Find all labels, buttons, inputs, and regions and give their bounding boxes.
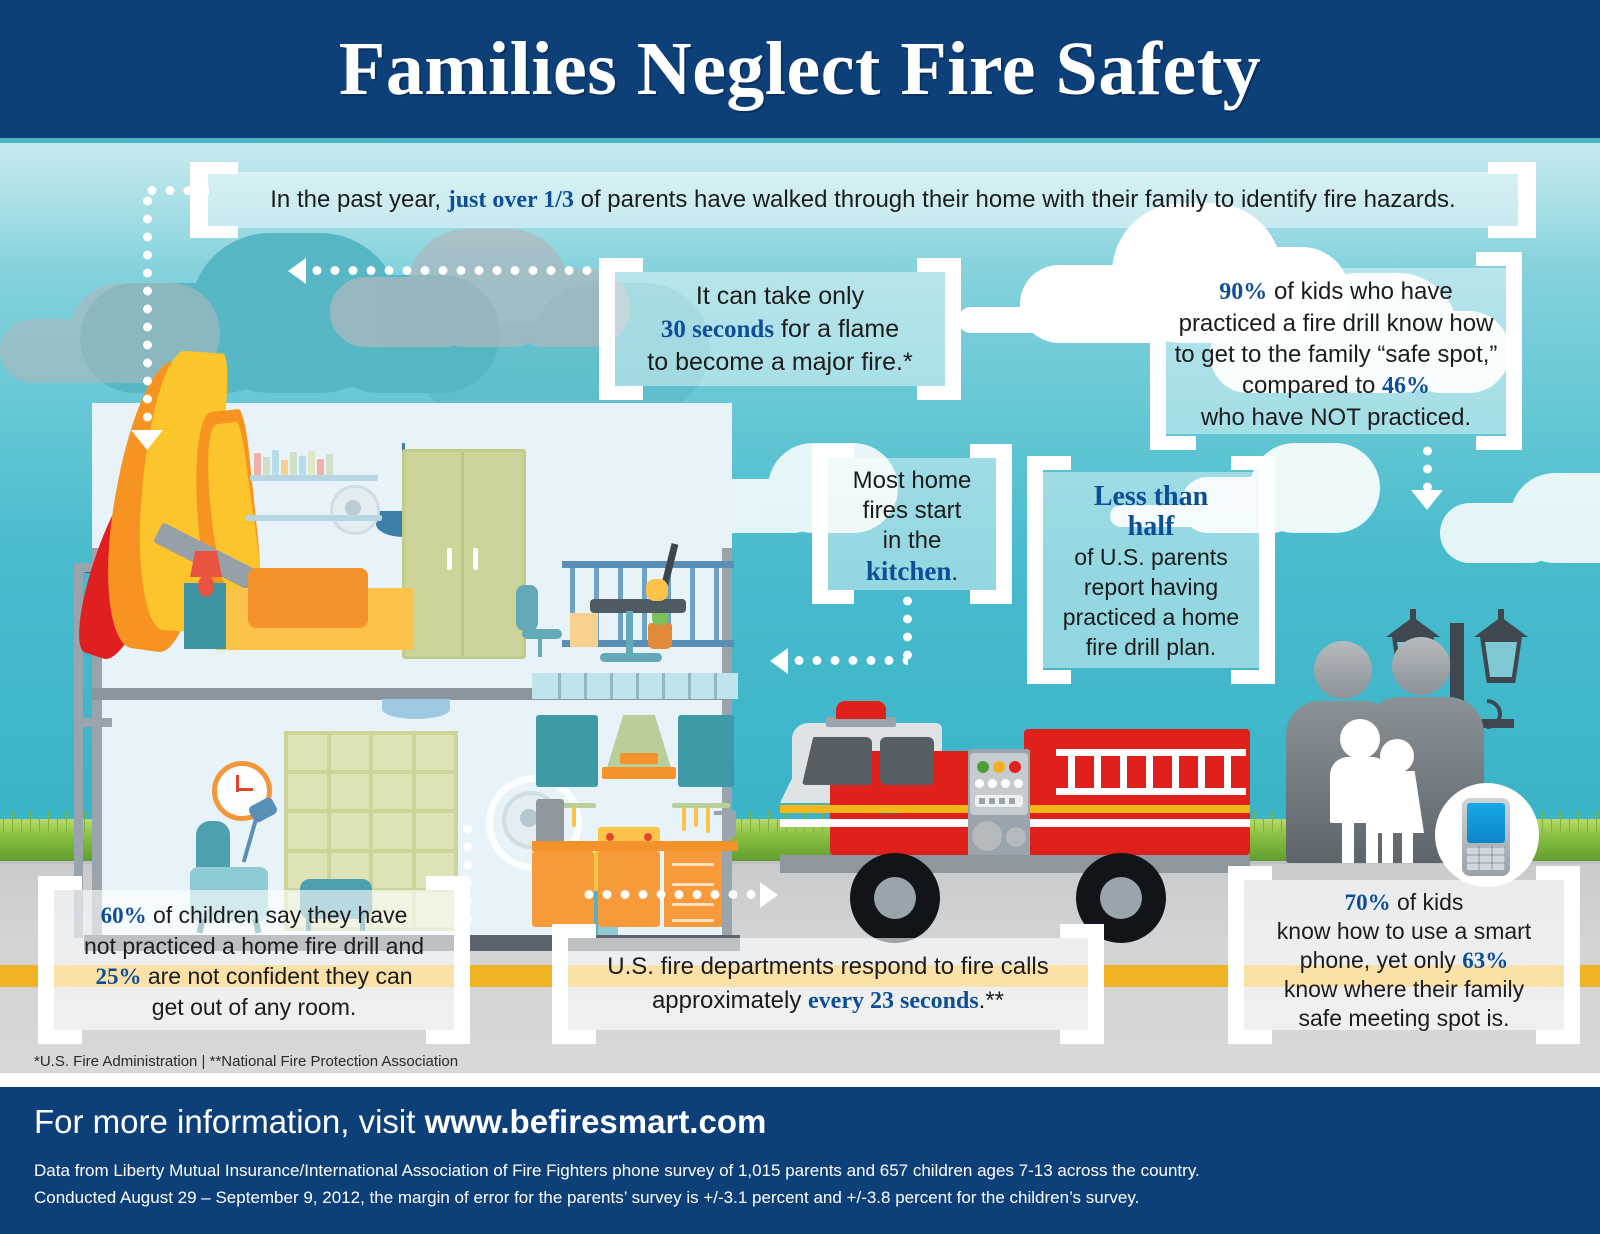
svp-l2: know how to use a smart	[1244, 917, 1564, 946]
connector-dots-banner-down	[143, 192, 152, 432]
callout-text: U.S. fire departments respond to fire ca…	[568, 938, 1088, 1018]
truck-front-wheel	[850, 853, 940, 943]
callout-text: 90% of kids who have practiced a fire dr…	[1166, 268, 1506, 433]
connector-arrow-down-family	[1411, 490, 1443, 510]
kitchen-faucet	[714, 811, 736, 815]
utensil-4	[682, 807, 686, 831]
page-title: Families Neglect Fire Safety	[0, 26, 1600, 112]
callout-text: Most home fires start in the kitchen.	[828, 458, 996, 588]
lh-l3: practiced a home	[1043, 602, 1259, 632]
kt-period: .	[951, 559, 958, 586]
truck-ladder	[1056, 749, 1246, 795]
connector-dots-truck-right	[580, 890, 762, 899]
connector-arrow-right-truck	[760, 882, 778, 908]
kitchen-lower-cabinet-center	[598, 851, 660, 927]
svp-l3-pre: phone, yet only	[1300, 947, 1462, 973]
floor-lamp	[240, 801, 280, 901]
footer-visit-line: For more information, visit www.befiresm…	[34, 1103, 766, 1141]
callout-top-banner[interactable]: In the past year, just over 1/3 of paren…	[208, 172, 1518, 228]
drain-arm-lower	[74, 718, 112, 727]
shelf-books	[254, 449, 333, 475]
smartphone-icon	[1462, 798, 1510, 876]
treadmill	[590, 543, 698, 651]
callout-text: 70% of kids know how to use a smart phon…	[1244, 880, 1564, 1033]
callout-less-than-half[interactable]: Less than half of U.S. parents report ha…	[1043, 472, 1259, 668]
kt-stat: kitchen	[866, 556, 952, 586]
callout-text: Less than half of U.S. parents report ha…	[1043, 472, 1259, 662]
kitchen-upper-cabinet-left	[536, 715, 598, 787]
sofa-cushion	[248, 568, 368, 628]
connector-arrow-left-30s	[288, 258, 306, 284]
callout-thirty-seconds[interactable]: It can take only 30 seconds for a flame …	[615, 272, 945, 386]
callout-text: It can take only 30 seconds for a flame …	[615, 272, 945, 379]
callout-text: 60% of children say they have not practi…	[54, 890, 454, 1022]
sp-l2: not practiced a home fire drill and	[54, 931, 454, 961]
np-l2: practiced a fire drill know how	[1166, 308, 1506, 339]
connector-dots-family	[1423, 442, 1432, 490]
svp-l4: know where their family	[1244, 975, 1564, 1004]
truck-side-window	[880, 737, 934, 785]
sources-note: *U.S. Fire Administration | **National F…	[34, 1053, 834, 1070]
svp-l1-rest: of kids	[1391, 889, 1464, 915]
tts-l2-post: .**	[979, 987, 1004, 1014]
ts-line2-rest: for a flame	[774, 315, 899, 343]
ts-stat: 30 seconds	[661, 316, 774, 343]
banner-pre: In the past year,	[270, 186, 447, 213]
connector-dots-truck-down	[463, 820, 472, 930]
truck-gauge-small	[1006, 827, 1026, 847]
np-stat2: 46%	[1382, 373, 1430, 399]
smoke-detector-icon	[330, 485, 380, 535]
sp-l3-rest: are not confident they can	[141, 963, 412, 989]
svp-stat1: 70%	[1345, 890, 1391, 915]
range-hood-lip	[602, 767, 676, 779]
footer-bar: For more information, visit www.befiresm…	[0, 1087, 1600, 1234]
table-lamp-base	[198, 575, 214, 597]
utensil-5	[694, 807, 698, 827]
lh-l2: report having	[1043, 572, 1259, 602]
wall-shelf-lower	[246, 515, 382, 521]
banner-post: of parents have walked through their hom…	[574, 186, 1456, 213]
np-l4-pre: compared to	[1242, 372, 1382, 399]
np-l5: who have NOT practiced.	[1166, 402, 1506, 433]
utensil-6	[706, 807, 710, 833]
table-lamp-shade	[190, 551, 222, 577]
kitchen-upper-cabinet-right	[678, 715, 734, 787]
white-cloud-e	[1440, 473, 1600, 563]
truck-control-panel	[970, 753, 1028, 815]
kitchen-appliance	[536, 799, 564, 841]
truck-warning-light	[836, 701, 886, 719]
lh-l4: fire drill plan.	[1043, 632, 1259, 662]
callout-seventy-percent[interactable]: 70% of kids know how to use a smart phon…	[1244, 880, 1564, 1030]
kitchen-drawers	[664, 851, 722, 927]
footer-note-line1: Data from Liberty Mutual Insurance/Inter…	[34, 1157, 1200, 1184]
ts-line1: It can take only	[615, 280, 945, 313]
tts-stat: every 23 seconds	[808, 988, 979, 1014]
range-hood-badge	[620, 753, 658, 764]
np-l1-rest: of kids who have	[1267, 278, 1452, 305]
header-bar: Families Neglect Fire Safety	[0, 0, 1600, 143]
callout-text: In the past year, just over 1/3 of paren…	[208, 172, 1518, 217]
sp-l1-rest: of children say they have	[147, 902, 408, 928]
tts-l2-pre: approximately	[652, 987, 808, 1014]
callout-kitchen[interactable]: Most home fires start in the kitchen.	[828, 458, 996, 590]
utensil-rail-right	[672, 803, 730, 808]
truck-gauge-large	[972, 821, 1002, 851]
callout-ninety-percent[interactable]: 90% of kids who have practiced a fire dr…	[1166, 268, 1506, 434]
connector-dots-30s	[308, 266, 608, 275]
sp-l4: get out of any room.	[54, 992, 454, 1022]
kitchen-lower-cabinet-left	[532, 851, 594, 927]
callout-sixty-percent[interactable]: 60% of children say they have not practi…	[54, 890, 454, 1030]
kt-l2: fires start	[828, 496, 996, 526]
lh-l1: of U.S. parents	[1043, 542, 1259, 572]
connector-arrow-down-house	[131, 430, 163, 450]
kitchen-counter	[532, 841, 738, 851]
truck-windshield	[802, 737, 872, 785]
np-stat1: 90%	[1219, 279, 1267, 305]
storage-box	[570, 613, 598, 647]
wall-shelf-upper	[250, 475, 378, 481]
footer-visit-pre: For more information, visit	[34, 1103, 425, 1140]
np-l3: to get to the family “safe spot,”	[1166, 339, 1506, 370]
kt-l1: Most home	[828, 466, 996, 496]
infographic-poster: Families Neglect Fire Safety	[0, 0, 1600, 1234]
kitchen-window	[532, 673, 738, 699]
truck-chassis	[780, 855, 1250, 873]
sp-stat2: 25%	[95, 964, 141, 989]
ceiling-light	[382, 699, 450, 719]
footer-note: Data from Liberty Mutual Insurance/Inter…	[34, 1157, 1200, 1211]
lh-stat-l2: half	[1128, 511, 1175, 542]
desk-chair	[514, 585, 558, 643]
connector-dots-kitchen-h	[790, 656, 908, 665]
tts-l1: U.S. fire departments respond to fire ca…	[568, 950, 1088, 984]
svp-stat2: 63%	[1462, 948, 1508, 973]
utensil-3	[572, 807, 576, 827]
lh-stat-l1: Less than	[1094, 481, 1208, 512]
connector-dots-banner-left	[143, 186, 209, 195]
truck-rear-wheel	[1076, 853, 1166, 943]
banner-stat: just over 1/3	[448, 187, 574, 213]
connector-dots-kitchen	[903, 592, 912, 666]
svp-l5: safe meeting spot is.	[1244, 1004, 1564, 1033]
kt-l3: in the	[828, 526, 996, 556]
fire-truck-icon	[780, 701, 1250, 931]
callout-twenty-three-seconds[interactable]: U.S. fire departments respond to fire ca…	[568, 938, 1088, 1030]
footer-url[interactable]: www.befiresmart.com	[425, 1103, 767, 1140]
kitchen-area	[532, 703, 738, 951]
connector-arrow-left-kitchen	[770, 648, 788, 674]
closet-doors	[402, 449, 526, 659]
footer-note-line2: Conducted August 29 – September 9, 2012,…	[34, 1184, 1200, 1211]
sp-stat1: 60%	[101, 903, 147, 928]
ts-line3: to become a major fire.*	[615, 346, 945, 379]
